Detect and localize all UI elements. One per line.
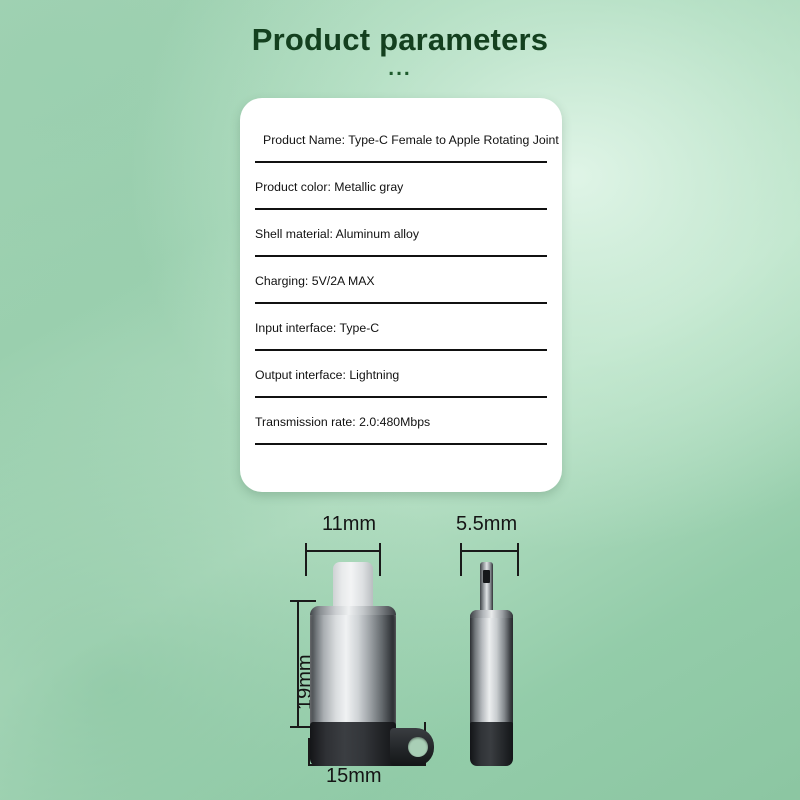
dimension-label-11mm: 11mm: [322, 513, 376, 536]
spec-row-product-name: Product Name: Type-C Female to Apple Rot…: [250, 116, 552, 163]
dim-cap-right-11mm: [379, 543, 381, 576]
title-dots-decoration: ...: [0, 62, 800, 76]
spec-row-input-interface: Input interface: Type-C: [250, 304, 552, 351]
adapter-black-base-side: [470, 722, 513, 766]
dim-cap-top-19mm: [290, 600, 316, 602]
keyring-hole: [408, 737, 428, 757]
dim-cap-left-11mm: [305, 543, 307, 576]
adapter-metal-body: [310, 606, 396, 726]
dimension-label-5-5mm: 5.5mm: [456, 513, 517, 536]
product-spec-card: Product Name: Type-C Female to Apple Rot…: [240, 98, 562, 492]
connector-pin-notch: [483, 570, 490, 583]
spec-text: Input interface: Type-C: [255, 321, 379, 335]
adapter-metal-body-side: [470, 610, 513, 726]
dim-line-5-5mm: [460, 550, 519, 552]
spec-text: Charging: 5V/2A MAX: [255, 274, 375, 288]
dim-cap-left-5-5mm: [460, 543, 462, 576]
dim-line-19mm: [297, 600, 299, 728]
spec-text: Output interface: Lightning: [255, 368, 399, 382]
spec-row-shell-material: Shell material: Aluminum alloy: [250, 210, 552, 257]
spec-row-charging: Charging: 5V/2A MAX: [250, 257, 552, 304]
adapter-body-rim-side: [470, 610, 513, 618]
spec-row-product-color: Product color: Metallic gray: [250, 163, 552, 210]
spec-row-output-interface: Output interface: Lightning: [250, 351, 552, 398]
page-header: Product parameters ...: [0, 22, 800, 76]
spec-text: Product color: Metallic gray: [255, 180, 403, 194]
adapter-body-rim: [310, 606, 396, 615]
spec-text: Product Name: Type-C Female to Apple Rot…: [263, 133, 559, 147]
spec-text: Shell material: Aluminum alloy: [255, 227, 419, 241]
spec-text: Transmission rate: 2.0:480Mbps: [255, 415, 430, 429]
dim-cap-right-5-5mm: [517, 543, 519, 576]
page-background: Product parameters ... Product Name: Typ…: [0, 0, 800, 800]
page-title: Product parameters: [0, 22, 800, 58]
adapter-black-base: [310, 722, 396, 766]
dimension-label-15mm: 15mm: [326, 765, 382, 788]
spec-row-transmission-rate: Transmission rate: 2.0:480Mbps: [250, 398, 552, 445]
dim-line-11mm: [305, 550, 381, 552]
